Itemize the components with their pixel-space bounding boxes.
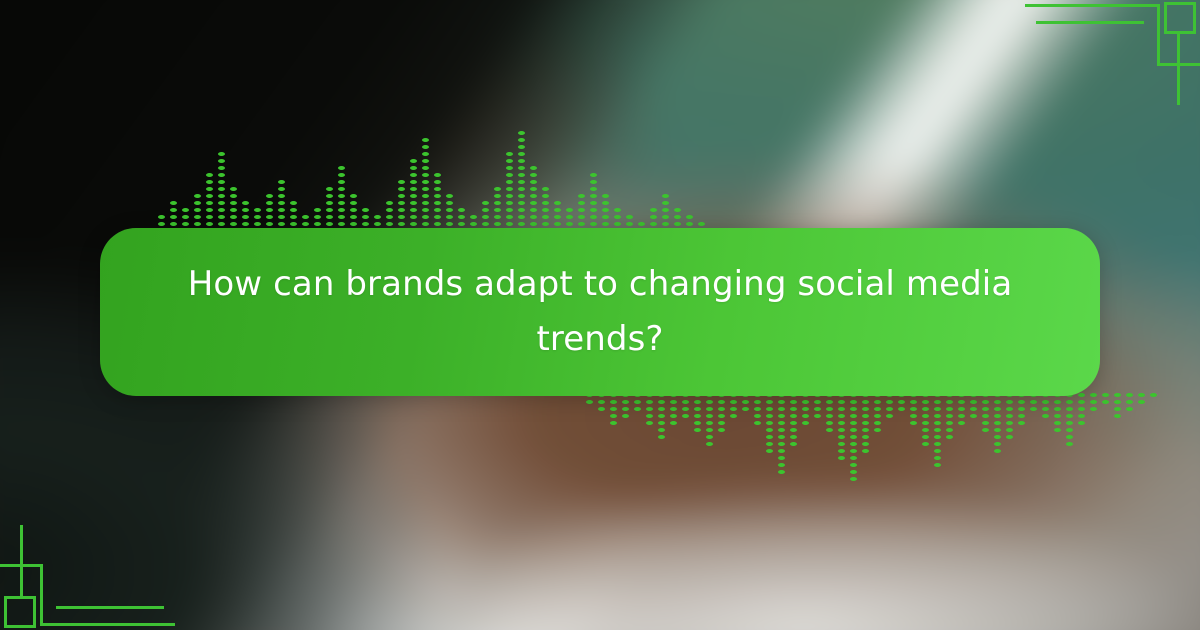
waveform-dot — [958, 407, 965, 411]
waveform-dot — [266, 222, 273, 226]
waveform-dot — [206, 180, 213, 184]
waveform-dot — [1066, 442, 1073, 446]
waveform-dot — [766, 435, 773, 439]
waveform-dot — [1078, 400, 1085, 404]
waveform-dot — [862, 400, 869, 404]
waveform-dot — [422, 194, 429, 198]
waveform-dot — [790, 428, 797, 432]
waveform-dot — [1018, 407, 1025, 411]
corner-bracket-top-right — [1025, 0, 1200, 105]
waveform-column — [799, 393, 811, 425]
waveform-dot — [778, 456, 785, 460]
waveform-dot — [338, 222, 345, 226]
waveform-column — [1063, 393, 1075, 446]
waveform-dot — [194, 194, 201, 198]
waveform-dot — [850, 456, 857, 460]
waveform-dot — [1054, 400, 1061, 404]
waveform-dot — [494, 208, 501, 212]
waveform-dot — [778, 428, 785, 432]
waveform-dot — [506, 159, 513, 163]
waveform-dot — [326, 208, 333, 212]
waveform-dot — [754, 400, 761, 404]
waveform-dot — [506, 222, 513, 226]
bracket-inner-horizontal-line — [56, 606, 164, 609]
waveform-dot — [230, 215, 237, 219]
waveform-dot — [482, 222, 489, 226]
waveform-dot — [302, 215, 309, 219]
waveform-dot — [934, 428, 941, 432]
waveform-column — [751, 393, 763, 425]
waveform-dot — [422, 187, 429, 191]
waveform-dot — [434, 222, 441, 226]
waveform-dot — [650, 208, 657, 212]
waveform-dot — [350, 194, 357, 198]
waveform-dot — [578, 201, 585, 205]
waveform-dot — [658, 407, 665, 411]
waveform-dot — [230, 222, 237, 226]
waveform-dot — [718, 428, 725, 432]
waveform-dot — [470, 215, 477, 219]
waveform-dot — [566, 208, 573, 212]
waveform-dot — [1114, 407, 1121, 411]
waveform-dot — [170, 201, 177, 205]
waveform-dot — [194, 208, 201, 212]
waveform-dot — [1054, 428, 1061, 432]
waveform-dot — [1030, 407, 1037, 411]
waveform-dot — [434, 208, 441, 212]
waveform-dot — [350, 222, 357, 226]
waveform-column — [515, 131, 527, 233]
waveform-dot — [1090, 393, 1097, 397]
waveform-dot — [518, 131, 525, 135]
waveform-dot — [946, 421, 953, 425]
waveform-dot — [934, 407, 941, 411]
waveform-dot — [706, 421, 713, 425]
waveform-dot — [626, 215, 633, 219]
waveform-dot — [1078, 421, 1085, 425]
waveform-dot — [1126, 407, 1133, 411]
waveform-dot — [922, 407, 929, 411]
waveform-dot — [434, 173, 441, 177]
bracket-outer-horizontal-line — [43, 623, 175, 626]
waveform-dot — [694, 407, 701, 411]
waveform-column — [931, 393, 943, 467]
waveform-dot — [1042, 400, 1049, 404]
waveform-dot — [862, 428, 869, 432]
waveform-dot — [434, 194, 441, 198]
waveform-dot — [218, 208, 225, 212]
waveform-dot — [1090, 400, 1097, 404]
waveform-dot — [386, 208, 393, 212]
waveform-dot — [686, 222, 693, 226]
waveform-dot — [506, 180, 513, 184]
waveform-column — [587, 173, 599, 233]
waveform-dot — [650, 215, 657, 219]
waveform-dot — [994, 435, 1001, 439]
waveform-column — [407, 159, 419, 233]
waveform-dot — [590, 201, 597, 205]
waveform-dot — [542, 215, 549, 219]
waveform-dot — [230, 187, 237, 191]
waveform-dot — [814, 414, 821, 418]
waveform-dot — [362, 215, 369, 219]
waveform-dot — [206, 222, 213, 226]
waveform-dot — [850, 428, 857, 432]
waveform-dot — [682, 407, 689, 411]
waveform-dot — [542, 201, 549, 205]
waveform-dot — [1126, 393, 1133, 397]
waveform-dot — [730, 400, 737, 404]
waveform-dot — [506, 208, 513, 212]
waveform-dot — [602, 215, 609, 219]
waveform-dot — [922, 421, 929, 425]
waveform-dot — [542, 187, 549, 191]
waveform-dot — [1030, 400, 1037, 404]
waveform-dot — [266, 208, 273, 212]
waveform-dot — [602, 222, 609, 226]
waveform-dot — [530, 194, 537, 198]
waveform-dot — [838, 400, 845, 404]
waveform-dot — [206, 187, 213, 191]
waveform-dot — [1066, 435, 1073, 439]
waveform-dot — [1102, 400, 1109, 404]
waveform-dot — [862, 421, 869, 425]
waveform-dot — [278, 222, 285, 226]
waveform-dot — [610, 414, 617, 418]
audio-waveform-bottom — [583, 393, 1159, 508]
waveform-dot — [506, 152, 513, 156]
waveform-dot — [218, 173, 225, 177]
waveform-dot — [910, 400, 917, 404]
waveform-dot — [1126, 400, 1133, 404]
waveform-dot — [614, 208, 621, 212]
waveform-dot — [922, 442, 929, 446]
waveform-dot — [446, 215, 453, 219]
waveform-dot — [838, 414, 845, 418]
waveform-dot — [614, 215, 621, 219]
waveform-dot — [598, 407, 605, 411]
waveform-dot — [302, 222, 309, 226]
waveform-dot — [422, 201, 429, 205]
waveform-dot — [670, 407, 677, 411]
waveform-dot — [242, 222, 249, 226]
waveform-dot — [922, 414, 929, 418]
waveform-dot — [1018, 414, 1025, 418]
waveform-dot — [674, 208, 681, 212]
waveform-dot — [718, 407, 725, 411]
waveform-dot — [646, 407, 653, 411]
waveform-dot — [554, 201, 561, 205]
waveform-dot — [910, 414, 917, 418]
waveform-dot — [850, 470, 857, 474]
waveform-dot — [646, 400, 653, 404]
waveform-dot — [434, 201, 441, 205]
waveform-dot — [518, 187, 525, 191]
waveform-dot — [1066, 428, 1073, 432]
waveform-dot — [650, 222, 657, 226]
waveform-dot — [194, 215, 201, 219]
waveform-dot — [982, 421, 989, 425]
waveform-dot — [554, 215, 561, 219]
bracket-inner-vertical-line — [20, 525, 23, 599]
waveform-column — [955, 393, 967, 425]
waveform-dot — [254, 222, 261, 226]
waveform-dot — [266, 201, 273, 205]
waveform-column — [655, 393, 667, 439]
waveform-column — [991, 393, 1003, 453]
waveform-dot — [662, 208, 669, 212]
waveform-dot — [554, 222, 561, 226]
waveform-dot — [662, 201, 669, 205]
headline-text: How can brands adapt to changing social … — [170, 257, 1030, 367]
waveform-dot — [278, 187, 285, 191]
waveform-dot — [970, 407, 977, 411]
waveform-dot — [242, 201, 249, 205]
waveform-dot — [586, 400, 593, 404]
waveform-dot — [730, 414, 737, 418]
waveform-column — [835, 393, 847, 460]
waveform-dot — [922, 435, 929, 439]
waveform-column — [943, 393, 955, 439]
waveform-dot — [934, 400, 941, 404]
waveform-dot — [634, 407, 641, 411]
waveform-dot — [1006, 407, 1013, 411]
waveform-dot — [790, 414, 797, 418]
waveform-dot — [218, 194, 225, 198]
waveform-dot — [518, 166, 525, 170]
waveform-dot — [494, 201, 501, 205]
waveform-dot — [1054, 421, 1061, 425]
waveform-dot — [614, 222, 621, 226]
waveform-dot — [982, 414, 989, 418]
waveform-dot — [934, 435, 941, 439]
waveform-dot — [934, 449, 941, 453]
waveform-dot — [254, 215, 261, 219]
waveform-dot — [206, 208, 213, 212]
bracket-corner-square — [4, 596, 36, 628]
waveform-dot — [506, 166, 513, 170]
waveform-column — [727, 393, 739, 418]
waveform-dot — [374, 215, 381, 219]
waveform-dot — [206, 173, 213, 177]
waveform-dot — [242, 208, 249, 212]
waveform-dot — [790, 400, 797, 404]
waveform-dot — [658, 400, 665, 404]
waveform-dot — [458, 208, 465, 212]
waveform-dot — [694, 428, 701, 432]
waveform-column — [607, 393, 619, 425]
waveform-dot — [422, 180, 429, 184]
waveform-dot — [266, 215, 273, 219]
waveform-dot — [1078, 414, 1085, 418]
bracket-outer-vertical-line — [40, 564, 43, 626]
waveform-dot — [218, 152, 225, 156]
waveform-dot — [1102, 393, 1109, 397]
waveform-dot — [530, 201, 537, 205]
waveform-dot — [626, 222, 633, 226]
waveform-dot — [278, 194, 285, 198]
waveform-dot — [622, 414, 629, 418]
waveform-dot — [610, 407, 617, 411]
waveform-dot — [958, 400, 965, 404]
waveform-dot — [1066, 407, 1073, 411]
waveform-dot — [1114, 400, 1121, 404]
waveform-dot — [790, 435, 797, 439]
waveform-dot — [206, 194, 213, 198]
waveform-dot — [398, 215, 405, 219]
waveform-dot — [410, 222, 417, 226]
waveform-dot — [994, 428, 1001, 432]
waveform-dot — [542, 222, 549, 226]
waveform-dot — [230, 201, 237, 205]
waveform-dot — [1006, 400, 1013, 404]
waveform-dot — [602, 208, 609, 212]
waveform-dot — [970, 400, 977, 404]
waveform-dot — [218, 222, 225, 226]
waveform-dot — [790, 421, 797, 425]
waveform-dot — [718, 414, 725, 418]
waveform-dot — [850, 414, 857, 418]
waveform-dot — [422, 138, 429, 142]
corner-bracket-bottom-left — [0, 525, 175, 630]
waveform-dot — [170, 208, 177, 212]
waveform-dot — [766, 414, 773, 418]
waveform-dot — [1054, 414, 1061, 418]
waveform-dot — [754, 407, 761, 411]
waveform-dot — [590, 215, 597, 219]
waveform-dot — [754, 421, 761, 425]
waveform-dot — [730, 407, 737, 411]
waveform-dot — [766, 407, 773, 411]
waveform-dot — [326, 222, 333, 226]
waveform-dot — [934, 442, 941, 446]
waveform-dot — [1018, 421, 1025, 425]
waveform-dot — [326, 194, 333, 198]
waveform-dot — [518, 194, 525, 198]
waveform-dot — [1006, 414, 1013, 418]
waveform-dot — [982, 400, 989, 404]
waveform-dot — [530, 166, 537, 170]
waveform-dot — [518, 152, 525, 156]
waveform-dot — [494, 222, 501, 226]
waveform-dot — [398, 208, 405, 212]
waveform-dot — [862, 449, 869, 453]
waveform-dot — [874, 407, 881, 411]
waveform-dot — [506, 187, 513, 191]
waveform-dot — [778, 407, 785, 411]
waveform-dot — [766, 442, 773, 446]
waveform-dot — [422, 215, 429, 219]
waveform-column — [491, 187, 503, 233]
waveform-column — [919, 393, 931, 446]
waveform-dot — [826, 414, 833, 418]
waveform-dot — [194, 222, 201, 226]
waveform-dot — [886, 414, 893, 418]
waveform-dot — [170, 215, 177, 219]
waveform-dot — [850, 463, 857, 467]
waveform-dot — [934, 421, 941, 425]
waveform-dot — [326, 201, 333, 205]
waveform-dot — [994, 400, 1001, 404]
waveform-column — [1039, 393, 1051, 418]
waveform-dot — [542, 208, 549, 212]
waveform-dot — [1042, 414, 1049, 418]
waveform-column — [1111, 393, 1123, 418]
waveform-column — [643, 393, 655, 425]
waveform-dot — [218, 159, 225, 163]
waveform-dot — [518, 145, 525, 149]
waveform-column — [1135, 393, 1147, 404]
waveform-dot — [778, 421, 785, 425]
waveform-dot — [1114, 414, 1121, 418]
waveform-dot — [422, 173, 429, 177]
waveform-dot — [838, 442, 845, 446]
waveform-dot — [874, 421, 881, 425]
waveform-dot — [410, 208, 417, 212]
waveform-dot — [670, 421, 677, 425]
waveform-dot — [170, 222, 177, 226]
waveform-dot — [982, 428, 989, 432]
waveform-dot — [530, 208, 537, 212]
waveform-dot — [658, 414, 665, 418]
waveform-dot — [706, 428, 713, 432]
waveform-dot — [398, 201, 405, 205]
waveform-dot — [422, 145, 429, 149]
waveform-dot — [778, 463, 785, 467]
waveform-dot — [802, 407, 809, 411]
waveform-dot — [1138, 393, 1145, 397]
waveform-column — [335, 166, 347, 233]
waveform-dot — [218, 215, 225, 219]
waveform-dot — [790, 442, 797, 446]
waveform-dot — [994, 414, 1001, 418]
waveform-dot — [838, 428, 845, 432]
waveform-dot — [446, 201, 453, 205]
waveform-dot — [458, 222, 465, 226]
waveform-dot — [410, 194, 417, 198]
waveform-dot — [838, 435, 845, 439]
waveform-dot — [578, 208, 585, 212]
waveform-dot — [946, 407, 953, 411]
waveform-dot — [410, 201, 417, 205]
waveform-dot — [622, 400, 629, 404]
waveform-dot — [874, 428, 881, 432]
waveform-column — [1147, 393, 1159, 397]
waveform-dot — [530, 173, 537, 177]
waveform-dot — [766, 421, 773, 425]
waveform-dot — [946, 414, 953, 418]
waveform-dot — [742, 407, 749, 411]
waveform-dot — [230, 194, 237, 198]
waveform-column — [847, 393, 859, 481]
waveform-dot — [826, 428, 833, 432]
waveform-dot — [662, 194, 669, 198]
waveform-dot — [398, 222, 405, 226]
waveform-dot — [698, 222, 705, 226]
waveform-dot — [622, 407, 629, 411]
waveform-dot — [790, 407, 797, 411]
waveform-column — [527, 166, 539, 233]
waveform-dot — [602, 194, 609, 198]
waveform-dot — [158, 222, 165, 226]
waveform-dot — [278, 201, 285, 205]
waveform-dot — [658, 428, 665, 432]
waveform-dot — [578, 215, 585, 219]
waveform-dot — [506, 201, 513, 205]
waveform-column — [679, 393, 691, 418]
bracket-corner-square — [1164, 2, 1196, 34]
waveform-dot — [850, 407, 857, 411]
